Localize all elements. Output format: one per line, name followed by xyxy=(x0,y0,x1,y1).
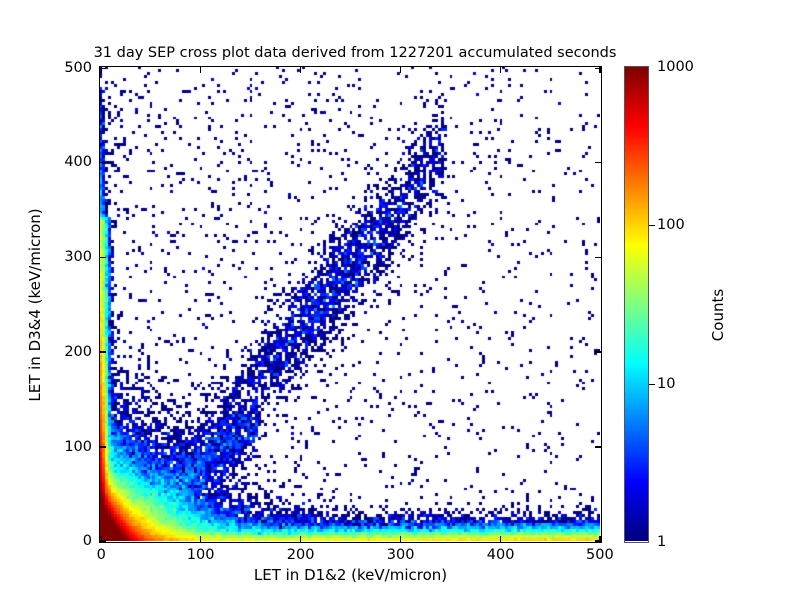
y-tick-label-100: 100 xyxy=(32,439,92,455)
y-tick-100 xyxy=(100,446,106,447)
y-tick-right-100 xyxy=(595,446,601,447)
x-tick-label-200: 200 xyxy=(287,547,315,563)
colorbar-label: Counts xyxy=(709,235,727,395)
colorbar-tick-10 xyxy=(649,384,655,385)
x-tick-top-400 xyxy=(500,67,501,73)
y-tick-200 xyxy=(100,351,106,352)
x-tick-label-400: 400 xyxy=(487,547,515,563)
x-tick-label-500: 500 xyxy=(586,547,614,563)
histogram-2d-canvas xyxy=(100,67,600,541)
x-tick-top-100 xyxy=(200,67,201,73)
figure-canvas: 31 day SEP cross plot data derived from … xyxy=(0,0,800,600)
y-tick-0 xyxy=(100,540,106,541)
y-tick-500 xyxy=(100,68,106,69)
x-tick-300 xyxy=(400,536,401,542)
y-axis-label: LET in D3&4 (keV/micron) xyxy=(26,175,44,435)
x-tick-100 xyxy=(200,536,201,542)
y-tick-label-500: 500 xyxy=(32,60,92,76)
y-tick-right-200 xyxy=(595,351,601,352)
colorbar-tick-100 xyxy=(649,225,655,226)
x-tick-400 xyxy=(500,536,501,542)
x-tick-label-0: 0 xyxy=(97,547,106,563)
colorbar[interactable] xyxy=(624,66,649,543)
x-tick-top-300 xyxy=(400,67,401,73)
y-tick-400 xyxy=(100,162,106,163)
y-tick-label-400: 400 xyxy=(32,154,92,170)
plot-title-line-1: 31 day SEP cross plot data derived from … xyxy=(0,44,710,62)
plot-area[interactable] xyxy=(99,66,602,543)
y-tick-right-300 xyxy=(595,257,601,258)
colorbar-tick-label-10: 10 xyxy=(657,376,675,392)
x-tick-200 xyxy=(300,536,301,542)
colorbar-tick-label-1000: 1000 xyxy=(657,59,694,75)
y-tick-right-0 xyxy=(595,540,601,541)
colorbar-gradient xyxy=(625,67,648,541)
y-tick-right-500 xyxy=(595,68,601,69)
x-axis-label: LET in D1&2 (keV/micron) xyxy=(99,566,602,584)
x-tick-label-300: 300 xyxy=(387,547,415,563)
y-tick-label-0: 0 xyxy=(32,533,92,549)
colorbar-tick-label-100: 100 xyxy=(657,217,685,233)
x-tick-label-100: 100 xyxy=(187,547,215,563)
x-tick-top-200 xyxy=(300,67,301,73)
y-tick-300 xyxy=(100,257,106,258)
y-tick-right-400 xyxy=(595,162,601,163)
colorbar-tick-label-1: 1 xyxy=(657,534,666,550)
